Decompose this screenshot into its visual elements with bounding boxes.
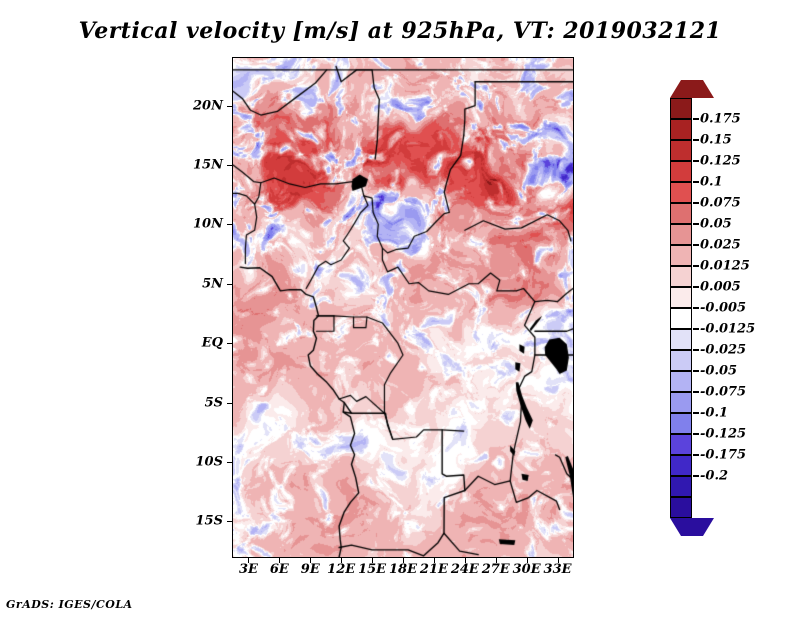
y-axis-tick	[227, 521, 233, 522]
colorbar-segment	[670, 350, 692, 371]
x-axis-tick	[496, 557, 497, 563]
colorbar-segment	[670, 140, 692, 161]
colorbar-tick	[693, 286, 699, 288]
y-axis-tick	[227, 403, 233, 404]
y-axis-label: EQ	[163, 336, 223, 351]
colorbar-tick	[693, 349, 699, 351]
colorbar-tick-label: 0.175	[700, 112, 741, 127]
colorbar-segment	[670, 119, 692, 140]
colorbar-tick	[693, 202, 699, 204]
x-axis-tick	[434, 557, 435, 563]
colorbar-segment	[670, 434, 692, 455]
colorbar-tick	[693, 244, 699, 246]
colorbar-segment	[670, 224, 692, 245]
colorbar-segment	[670, 371, 692, 392]
colorbar-tick	[693, 307, 699, 309]
colorbar-tick-label: -0.05	[700, 364, 737, 379]
y-axis-label: 15N	[163, 157, 223, 172]
colorbar-tick-label: -0.1	[700, 406, 728, 421]
y-axis-tick	[227, 106, 233, 107]
colorbar-tick-label: 0.025	[700, 238, 741, 253]
x-axis-tick	[372, 557, 373, 563]
colorbar-segment	[670, 392, 692, 413]
x-axis-tick	[310, 557, 311, 563]
y-axis-tick	[227, 165, 233, 166]
colorbar-tick	[693, 160, 699, 162]
colorbar-tick-label: -0.125	[700, 427, 746, 442]
colorbar-tick	[693, 370, 699, 372]
colorbar-segment	[670, 455, 692, 476]
colorbar-tick-label: -0.175	[700, 448, 746, 463]
colorbar-tick-label: -0.2	[700, 469, 728, 484]
page-title: Vertical velocity [m/s] at 925hPa, VT: 2…	[0, 18, 800, 44]
colorbar-segment	[670, 98, 692, 119]
y-axis-label: 10N	[163, 217, 223, 232]
colorbar-tick-label: 0.05	[700, 217, 732, 232]
colorbar-segment	[670, 476, 692, 497]
colorbar-tick	[693, 454, 699, 456]
x-axis-tick	[465, 557, 466, 563]
colorbar-tick	[693, 118, 699, 120]
y-axis-label: 15S	[163, 514, 223, 529]
y-axis-tick	[227, 284, 233, 285]
colorbar-tick-label: 0.125	[700, 154, 741, 169]
colorbar-tick-label: 0.005	[700, 280, 741, 295]
y-axis-label: 10S	[163, 454, 223, 469]
y-axis-label: 5N	[163, 276, 223, 291]
colorbar-segment	[670, 329, 692, 350]
colorbar-tick	[693, 433, 699, 435]
colorbar-tick	[693, 475, 699, 477]
colorbar-tick	[693, 265, 699, 267]
x-axis-tick	[558, 557, 559, 563]
colorbar-tick-label: -0.025	[700, 343, 746, 358]
y-axis-tick	[227, 462, 233, 463]
colorbar-tick-label: -0.0125	[700, 322, 755, 337]
colorbar-segment	[670, 413, 692, 434]
colorbar-tick-label: 0.15	[700, 133, 732, 148]
colorbar-segment	[670, 161, 692, 182]
colorbar-arrow-max	[670, 80, 714, 98]
colorbar-tick	[693, 139, 699, 141]
colorbar-tick-label: 0.075	[700, 196, 741, 211]
colorbar: 0.1750.150.1250.10.0750.050.0250.01250.0…	[670, 58, 790, 558]
colorbar-segment	[670, 308, 692, 329]
x-axis-label: 33E	[535, 562, 581, 577]
x-axis-tick	[341, 557, 342, 563]
colorbar-tick-label: 0.1	[700, 175, 723, 190]
colorbar-segment	[670, 287, 692, 308]
x-axis-tick	[248, 557, 249, 563]
y-axis-label: 5S	[163, 395, 223, 410]
x-axis-tick	[403, 557, 404, 563]
colorbar-tick	[693, 391, 699, 393]
y-axis-tick	[227, 224, 233, 225]
colorbar-segment	[670, 245, 692, 266]
colorbar-segment	[670, 266, 692, 287]
colorbar-tick	[693, 181, 699, 183]
x-axis-tick	[527, 557, 528, 563]
colorbar-segment	[670, 182, 692, 203]
colorbar-tick-label: 0.0125	[700, 259, 750, 274]
colorbar-tick	[693, 328, 699, 330]
colorbar-arrow-min	[670, 518, 714, 536]
colorbar-tick-label: -0.075	[700, 385, 746, 400]
colorbar-segment	[670, 497, 692, 518]
colorbar-tick	[693, 223, 699, 225]
colorbar-tick-label: -0.005	[700, 301, 746, 316]
colorbar-tick	[693, 412, 699, 414]
map-plot-area	[233, 58, 573, 557]
y-axis-tick	[227, 343, 233, 344]
x-axis-tick	[279, 557, 280, 563]
y-axis-label: 20N	[163, 98, 223, 113]
vertical-velocity-field	[233, 58, 573, 557]
footer-attribution: GrADS: IGES/COLA	[6, 598, 133, 611]
colorbar-segment	[670, 203, 692, 224]
